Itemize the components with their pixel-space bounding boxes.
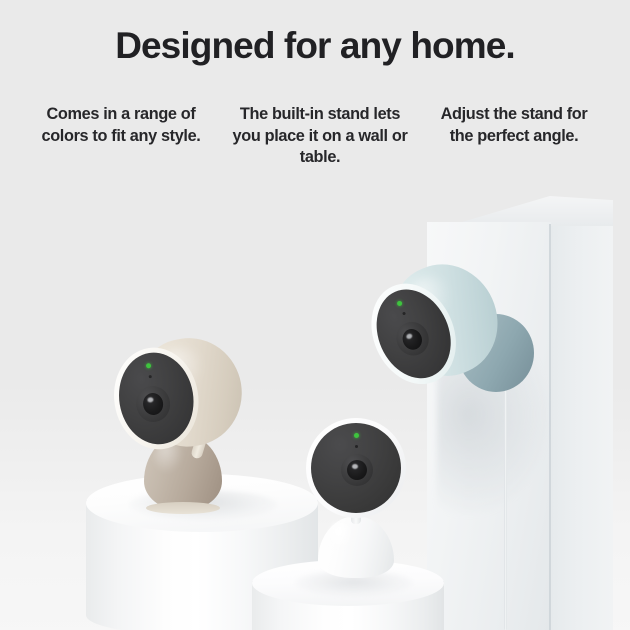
power-cable: [504, 390, 507, 630]
page-title: Designed for any home.: [0, 24, 630, 68]
camera-linen-body: [104, 330, 252, 459]
camera-linen-base-foot: [146, 502, 220, 514]
camera-linen: [106, 338, 266, 518]
wall-panel-edge: [549, 224, 551, 630]
camera-snow-lens: [347, 460, 367, 480]
benefit-columns: Comes in a range of colors to fit any st…: [30, 104, 600, 169]
camera-snow-status-led: [354, 433, 359, 438]
product-photo-scene: [0, 178, 630, 630]
product-feature-image: Designed for any home. Comes in a range …: [0, 0, 630, 630]
benefit-adjust-angle: Adjust the stand for the perfect angle.: [428, 104, 600, 147]
camera-snow-microphone-hole: [355, 445, 358, 448]
camera-snow: [296, 418, 416, 590]
camera-snow-lens-highlight: [352, 464, 358, 469]
camera-snow-base-dome: [318, 516, 394, 578]
camera-fog: [372, 240, 540, 420]
benefit-colors: Comes in a range of colors to fit any st…: [30, 104, 212, 147]
camera-snow-base-highlight: [328, 522, 354, 552]
benefit-built-in-stand: The built-in stand lets you place it on …: [225, 104, 415, 169]
wall-panel-side-face: [550, 226, 613, 630]
